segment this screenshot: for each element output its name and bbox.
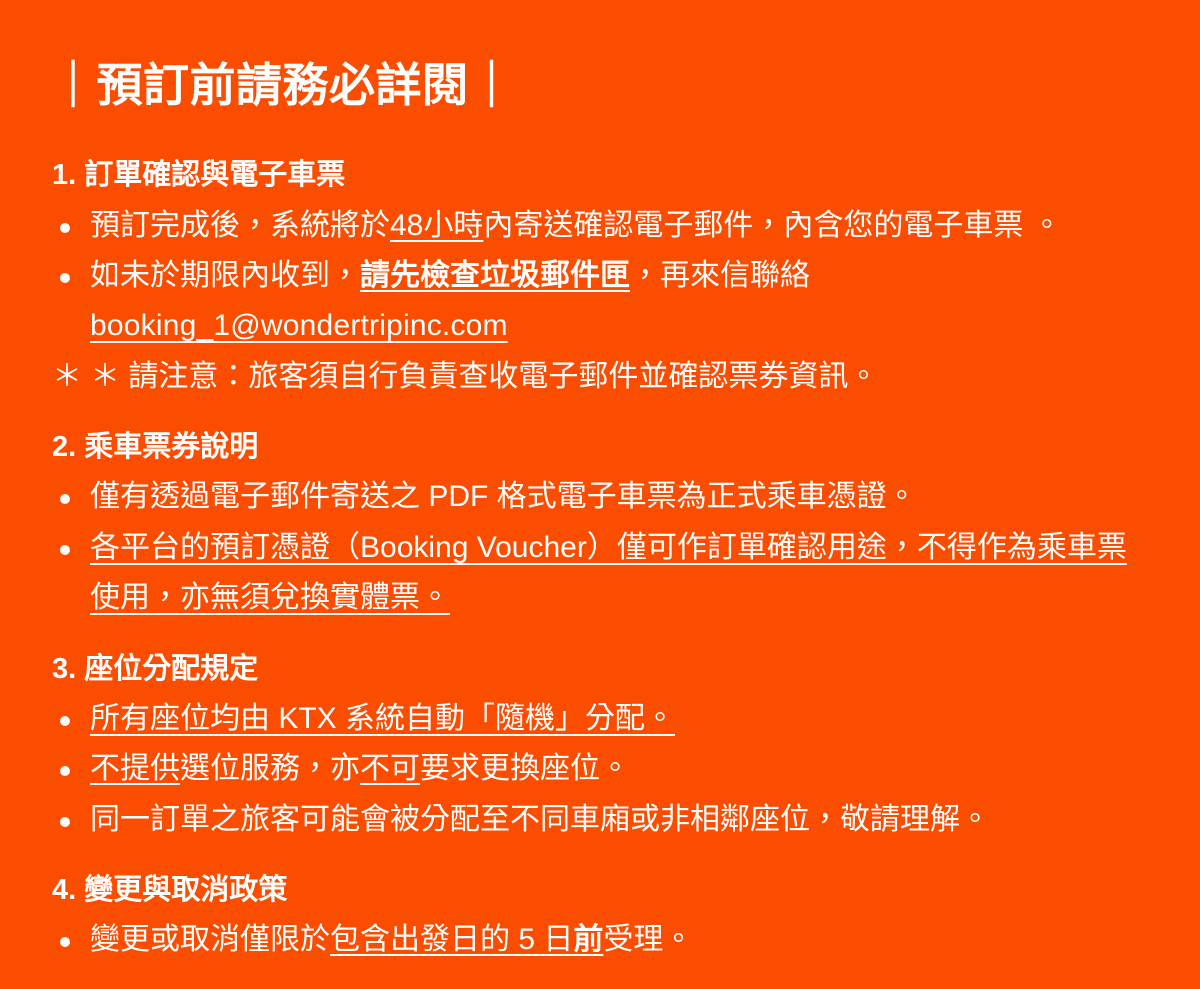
- text-segment: 要求更換座位。: [420, 752, 630, 785]
- text-segment-emphasis: 所有座位均由 KTX 系統自動「隨機」分配。: [90, 702, 675, 735]
- list-item: 各平台的預訂憑證（Booking Voucher）僅可作訂單確認用途，不得作為乘…: [50, 523, 1154, 624]
- text-segment-emphasis: 不提供: [90, 752, 180, 785]
- list-item: 所有座位均由 KTX 系統自動「隨機」分配。: [50, 694, 1154, 744]
- section-heading: 4. 變更與取消政策: [52, 871, 1154, 909]
- text-segment-emphasis: 48小時: [390, 209, 483, 242]
- text-segment-emphasis: 前: [573, 923, 603, 956]
- text-segment-emphasis: 不可: [360, 752, 420, 785]
- bullet-list: 預訂完成後，系統將於48小時內寄送確認電子郵件，內含您的電子車票 。 如未於期限…: [50, 201, 1154, 403]
- section-heading: 2. 乘車票券說明: [52, 428, 1154, 466]
- list-item: 預訂完成後，系統將於48小時內寄送確認電子郵件，內含您的電子車票 。: [50, 201, 1154, 251]
- text-segment-emphasis: 包含出發日的 5 日: [330, 923, 573, 956]
- text-segment: 受理。: [603, 923, 693, 956]
- list-item: 僅有透過電子郵件寄送之 PDF 格式電子車票為正式乘車憑證。: [50, 472, 1154, 522]
- section-seat-assignment: 3. 座位分配規定 所有座位均由 KTX 系統自動「隨機」分配。 不提供選位服務…: [50, 650, 1154, 845]
- text-segment: 同一訂單之旅客可能會被分配至不同車廂或非相鄰座位，敬請理解。: [90, 803, 990, 836]
- text-segment: 預訂完成後，系統將於: [90, 209, 390, 242]
- asterisk-icon: ＊: [52, 352, 82, 402]
- section-heading: 1. 訂單確認與電子車票: [52, 156, 1154, 194]
- list-item: 如未於期限內收到，請先檢查垃圾郵件匣，再來信聯絡 booking_1@wonde…: [50, 251, 1154, 352]
- list-item-note: ＊ 請注意：旅客須自行負責查收電子郵件並確認票券資訊。: [50, 352, 1154, 402]
- page-title: ｜預訂前請務必詳閱｜: [50, 58, 1154, 112]
- contact-email[interactable]: booking_1@wondertripinc.com: [90, 301, 508, 351]
- text-segment: 變更或取消僅限於: [90, 923, 330, 956]
- notice-page: ｜預訂前請務必詳閱｜ 1. 訂單確認與電子車票 預訂完成後，系統將於48小時內寄…: [0, 0, 1200, 989]
- bullet-list: 變更或取消僅限於包含出發日的 5 日前受理。: [50, 915, 1154, 965]
- section-change-cancellation: 4. 變更與取消政策 變更或取消僅限於包含出發日的 5 日前受理。: [50, 871, 1154, 966]
- text-segment: 如未於期限內收到，: [90, 259, 360, 292]
- bullet-list: 僅有透過電子郵件寄送之 PDF 格式電子車票為正式乘車憑證。 各平台的預訂憑證（…: [50, 472, 1154, 623]
- text-segment: 請注意：旅客須自行負責查收電子郵件並確認票券資訊。: [128, 360, 878, 393]
- section-heading: 3. 座位分配規定: [52, 650, 1154, 688]
- text-segment: 僅有透過電子郵件寄送之 PDF 格式電子車票為正式乘車憑證。: [90, 480, 917, 513]
- text-segment: 內寄送確認電子郵件，內含您的電子車票 。: [483, 209, 1061, 242]
- list-item: 變更或取消僅限於包含出發日的 5 日前受理。: [50, 915, 1154, 965]
- list-item: 同一訂單之旅客可能會被分配至不同車廂或非相鄰座位，敬請理解。: [50, 795, 1154, 845]
- text-segment: 選位服務，亦: [180, 752, 360, 785]
- bullet-list: 所有座位均由 KTX 系統自動「隨機」分配。 不提供選位服務，亦不可要求更換座位…: [50, 694, 1154, 845]
- section-ticket-voucher: 2. 乘車票券說明 僅有透過電子郵件寄送之 PDF 格式電子車票為正式乘車憑證。…: [50, 428, 1154, 623]
- section-order-confirmation: 1. 訂單確認與電子車票 預訂完成後，系統將於48小時內寄送確認電子郵件，內含您…: [50, 156, 1154, 402]
- text-segment-emphasis: 請先檢查垃圾郵件匣: [360, 259, 630, 292]
- text-segment-emphasis: 各平台的預訂憑證（Booking Voucher）僅可作訂單確認用途，不得作為乘…: [90, 531, 1127, 614]
- text-segment: ，再來信聯絡: [630, 259, 810, 292]
- list-item: 不提供選位服務，亦不可要求更換座位。: [50, 744, 1154, 794]
